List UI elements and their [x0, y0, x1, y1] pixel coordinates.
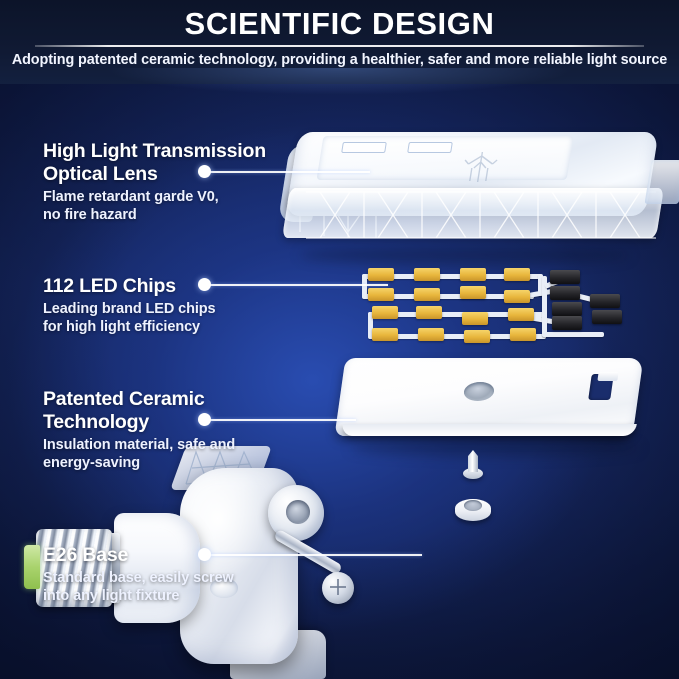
screw-pin-part — [463, 450, 483, 480]
callout-sub-line2: energy-saving — [43, 454, 293, 472]
callout-led-chips: 112 LED Chips Leading brand LED chips fo… — [43, 275, 283, 336]
callout-sub-line1: Leading brand LED chips — [43, 300, 283, 318]
leader-dot-optical-lens — [198, 165, 211, 178]
callout-title-line1: High Light Transmission — [43, 140, 283, 163]
leader-dot-e26-base — [198, 548, 211, 561]
callout-title-line2: Optical Lens — [43, 163, 283, 186]
callout-sub-line2: for high light efficiency — [43, 318, 283, 336]
callout-sub-line1: Insulation material, safe and — [43, 436, 293, 454]
leader-dot-led-chips — [198, 278, 211, 291]
washer-part — [455, 495, 491, 523]
leader-dot-ceramic — [198, 413, 211, 426]
page-title: SCIENTIFIC DESIGN — [0, 6, 679, 42]
callout-ceramic-technology: Patented Ceramic Technology Insulation m… — [43, 388, 293, 472]
callout-sub-line1: Flame retardant garde V0, — [43, 188, 283, 206]
title-divider — [35, 45, 644, 47]
callout-title-line1: Patented Ceramic — [43, 388, 293, 411]
callout-sub-line2: into any light fixture — [43, 587, 293, 605]
base-knuckle-hole — [286, 500, 310, 524]
e26-contact-tip — [24, 545, 40, 589]
callout-title-line1: 112 LED Chips — [43, 275, 283, 298]
infographic-page: SCIENTIFIC DESIGN Adopting patented cera… — [0, 0, 679, 679]
callout-sub-line1: Standard base, easily screw — [43, 569, 293, 587]
callout-title-line1: E26 Base — [43, 544, 293, 567]
page-subtitle: Adopting patented ceramic technology, pr… — [0, 49, 679, 71]
header-banner: SCIENTIFIC DESIGN Adopting patented cera… — [0, 0, 679, 84]
callout-title-line2: Technology — [43, 411, 293, 434]
callout-sub-line2: no fire hazard — [43, 206, 283, 224]
callout-e26-base: E26 Base Standard base, easily screw int… — [43, 544, 293, 605]
callout-optical-lens: High Light Transmission Optical Lens Fla… — [43, 140, 283, 224]
